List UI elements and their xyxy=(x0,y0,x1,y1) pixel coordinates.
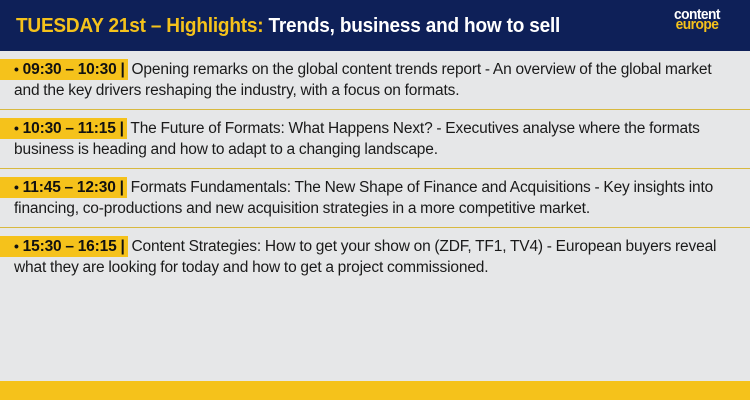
bullet-icon: • xyxy=(14,238,19,254)
bullet-icon: • xyxy=(14,120,19,136)
session-time: 10:30 – 11:15 xyxy=(23,120,116,137)
highlights-slide: TUESDAY 21st – Highlights: Trends, busin… xyxy=(0,0,750,400)
session-time: 09:30 – 10:30 xyxy=(23,61,117,78)
session-time-chip: • 10:30 – 11:15 | xyxy=(0,118,127,139)
session-item: • 11:45 – 12:30 | Formats Fundamentals: … xyxy=(0,169,750,228)
bullet-icon: • xyxy=(14,61,19,77)
session-separator: | xyxy=(120,179,127,196)
header-subtitle: Trends, business and how to sell xyxy=(263,15,560,37)
session-time-chip: • 15:30 – 16:15 | xyxy=(0,236,128,257)
session-separator: | xyxy=(120,61,127,78)
page-title: TUESDAY 21st – Highlights: Trends, busin… xyxy=(16,16,560,36)
logo-line-europe: europe xyxy=(661,17,733,32)
session-separator: | xyxy=(120,238,127,255)
session-item: • 15:30 – 16:15 | Content Strategies: Ho… xyxy=(0,228,750,286)
session-text: • 15:30 – 16:15 | Content Strategies: Ho… xyxy=(0,236,736,278)
footer-accent-bar xyxy=(0,381,750,400)
session-time: 11:45 – 12:30 xyxy=(23,179,116,196)
session-separator: | xyxy=(120,120,127,137)
session-time-chip: • 09:30 – 10:30 | xyxy=(0,59,128,80)
session-text: • 11:45 – 12:30 | Formats Fundamentals: … xyxy=(0,177,736,219)
header-bar: TUESDAY 21st – Highlights: Trends, busin… xyxy=(0,0,750,51)
bullet-icon: • xyxy=(14,179,19,195)
session-item: • 10:30 – 11:15 | The Future of Formats:… xyxy=(0,110,750,169)
session-text: • 09:30 – 10:30 | Opening remarks on the… xyxy=(0,59,736,101)
session-text: • 10:30 – 11:15 | The Future of Formats:… xyxy=(0,118,736,160)
session-time: 15:30 – 16:15 xyxy=(23,238,117,255)
header-day-label: TUESDAY 21st – Highlights: xyxy=(16,15,263,37)
session-list: • 09:30 – 10:30 | Opening remarks on the… xyxy=(0,51,750,381)
session-time-chip: • 11:45 – 12:30 | xyxy=(0,177,127,198)
session-item: • 09:30 – 10:30 | Opening remarks on the… xyxy=(0,51,750,110)
content-europe-logo: content europe xyxy=(658,7,736,43)
